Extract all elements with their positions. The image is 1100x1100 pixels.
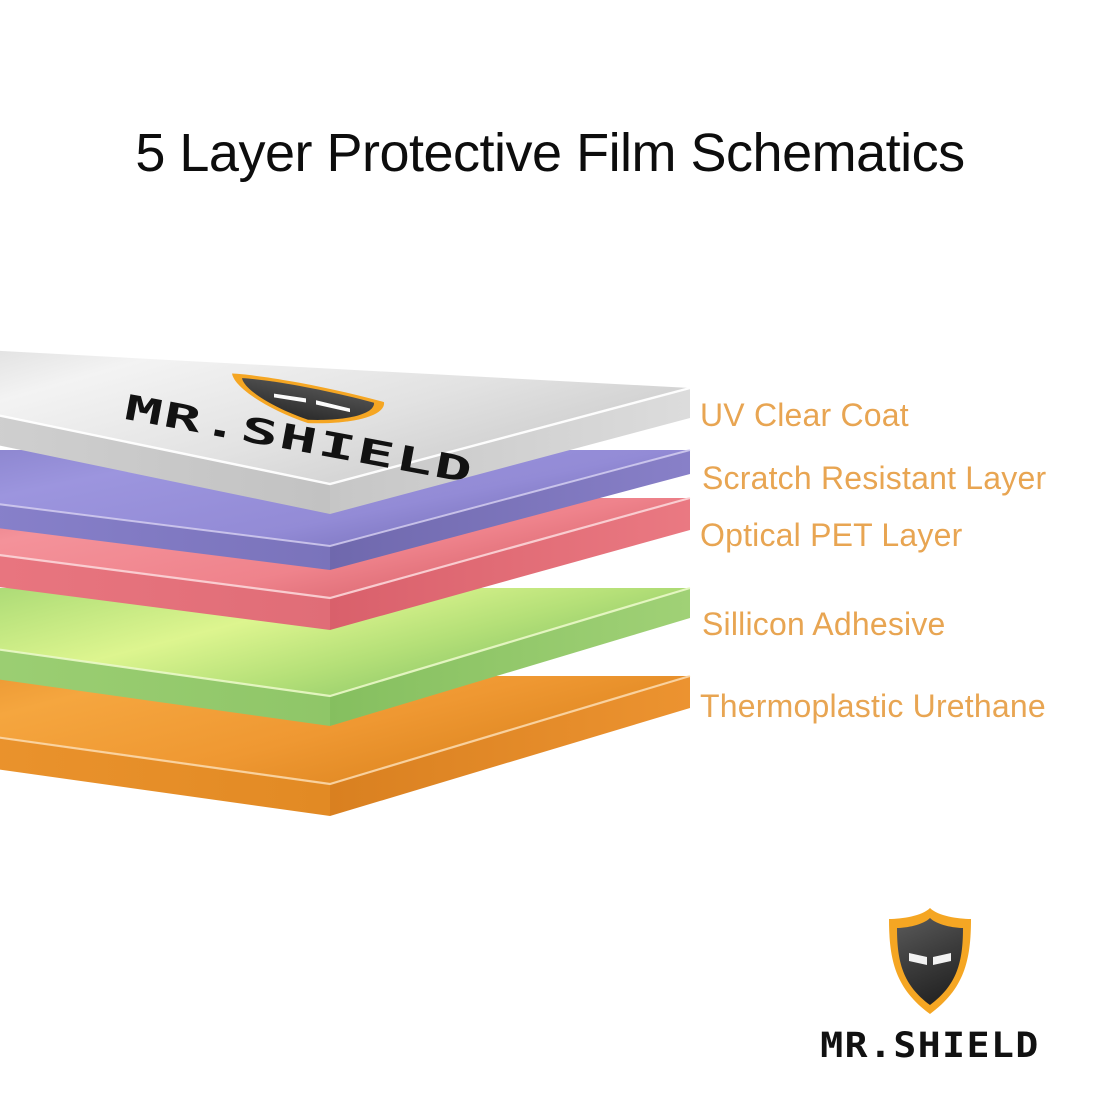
layer-label-uv-clear-coat: UV Clear Coat xyxy=(700,397,909,434)
layer-label-optical-pet-layer: Optical PET Layer xyxy=(700,517,962,554)
brand-logo: MR.SHIELD xyxy=(770,905,1090,1075)
layer-label-thermoplastic-urethane: Thermoplastic Urethane xyxy=(700,688,1046,725)
schematic-canvas: 5 Layer Protective Film Schematics xyxy=(0,0,1100,1100)
layer-label-sillicon-adhesive: Sillicon Adhesive xyxy=(702,606,946,643)
brand-wordmark: MR.SHIELD xyxy=(770,1025,1090,1065)
layer-label-scratch-resistant-layer: Scratch Resistant Layer xyxy=(702,460,1046,497)
shield-icon xyxy=(882,905,978,1017)
page-title: 5 Layer Protective Film Schematics xyxy=(0,122,1100,184)
